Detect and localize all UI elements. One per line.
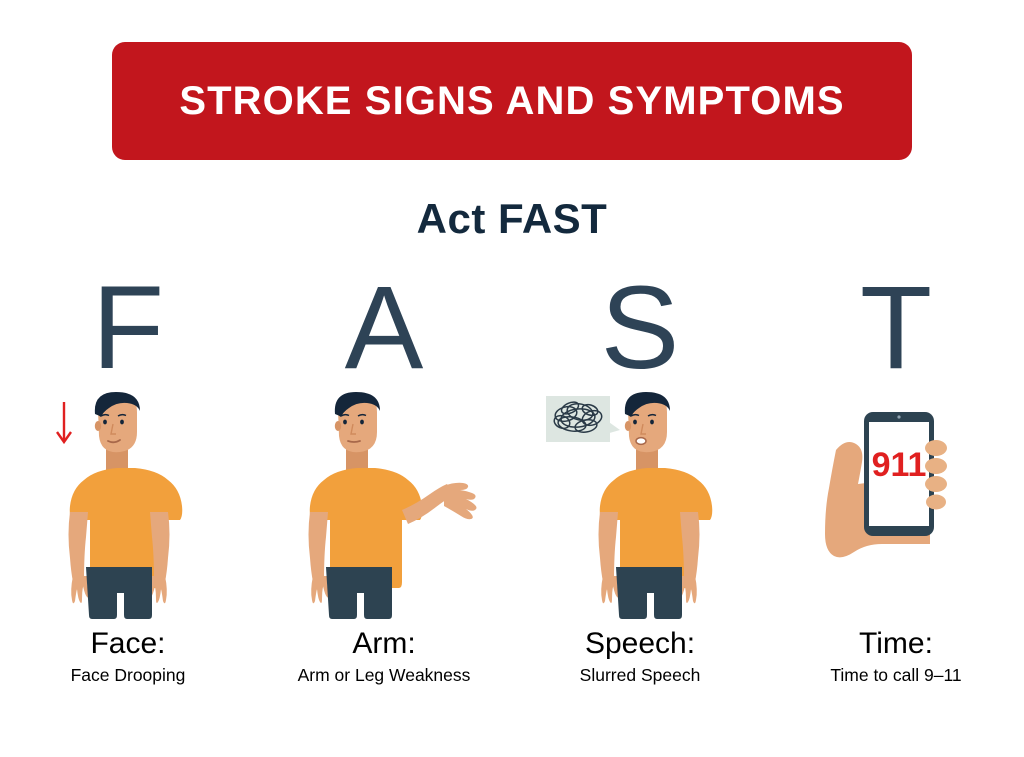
caption-subtitle: Arm or Leg Weakness [256, 663, 512, 687]
caption-title: Speech: [512, 627, 768, 661]
caption-title: Time: [768, 627, 1024, 661]
person-speech-bubble-icon [512, 390, 768, 622]
hand-holding-phone-icon: 911 [768, 390, 1024, 622]
big-letter-s: S [512, 272, 768, 384]
big-letter-a: A [256, 272, 512, 384]
red-down-arrow-icon [57, 402, 71, 442]
caption-face: Face: Face Drooping [0, 627, 256, 687]
caption-subtitle: Face Drooping [0, 663, 256, 687]
subtitle-act-fast: Act FAST [0, 195, 1024, 243]
column-time: T 911 [768, 272, 1024, 702]
column-speech: S [512, 272, 768, 702]
person-face-drooping-icon [0, 390, 256, 622]
caption-title: Arm: [256, 627, 512, 661]
caption-arm: Arm: Arm or Leg Weakness [256, 627, 512, 687]
column-face: F [0, 272, 256, 702]
infographic-page: STROKE SIGNS AND SYMPTOMS Act FAST F [0, 0, 1024, 757]
title-banner: STROKE SIGNS AND SYMPTOMS [112, 42, 912, 160]
caption-time: Time: Time to call 9–11 [768, 627, 1024, 687]
caption-title: Face: [0, 627, 256, 661]
column-arm: A [256, 272, 512, 702]
fast-columns: F [0, 272, 1024, 702]
scribble-speech-bubble-icon [546, 396, 620, 442]
person-arm-raised-icon [256, 390, 512, 622]
big-letter-f: F [0, 272, 256, 384]
page-title: STROKE SIGNS AND SYMPTOMS [179, 79, 844, 124]
big-letter-t: T [768, 272, 1024, 384]
phone-screen-911-text: 911 [872, 446, 927, 484]
caption-subtitle: Time to call 9–11 [768, 663, 1024, 687]
caption-speech: Speech: Slurred Speech [512, 627, 768, 687]
caption-subtitle: Slurred Speech [512, 663, 768, 687]
